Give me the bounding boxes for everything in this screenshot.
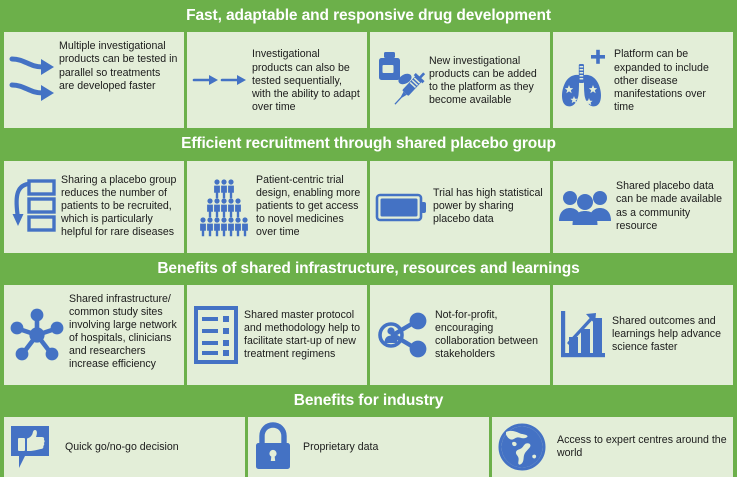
card-master-protocol: Shared master protocol and methodology h… (187, 285, 367, 385)
card-text: Multiple investigational products can be… (59, 38, 178, 93)
share-collaboration-icon (375, 310, 431, 360)
card-text: Investigational products can also be tes… (252, 46, 361, 114)
card-text: Proprietary data (297, 441, 483, 454)
card-platform-expansion: Platform can be expanded to include othe… (553, 32, 733, 128)
card-row: Sharing a placebo group reduces the numb… (4, 161, 733, 253)
card-proprietary-data: Proprietary data (248, 417, 489, 477)
card-statistical-power: Trial has high statistical power by shar… (370, 161, 550, 253)
card-text: Patient-centric trial design, enabling m… (256, 174, 361, 240)
section-efficient-recruitment: Efficient recruitment through shared pla… (4, 132, 733, 252)
section-title-banner: Benefits for industry (4, 389, 733, 414)
card-go-no-go-decision: Quick go/no-go decision (4, 417, 245, 477)
card-not-for-profit: Not-for-profit, encouraging collaboratio… (370, 285, 550, 385)
card-row: Multiple investigational products can be… (4, 32, 733, 128)
two-curved-arrows-icon (9, 49, 55, 111)
card-text: Shared infrastructure/ common study site… (69, 291, 178, 372)
section-title-banner: Benefits of shared infrastructure, resou… (4, 257, 733, 282)
network-hub-icon (9, 306, 65, 364)
thumbs-up-bubble-icon (9, 423, 55, 471)
full-battery-icon (375, 189, 429, 225)
section-title-banner: Fast, adaptable and responsive drug deve… (4, 4, 733, 29)
infographic-root: Fast, adaptable and responsive drug deve… (0, 0, 737, 471)
lungs-plus-icon (558, 49, 610, 111)
card-new-products-added: New investigational products can be adde… (370, 32, 550, 128)
card-text: Access to expert centres around the worl… (551, 434, 727, 460)
card-shared-infrastructure: Shared infrastructure/ common study site… (4, 285, 184, 385)
card-text: Shared master protocol and methodology h… (244, 309, 361, 362)
section-title-banner: Efficient recruitment through shared pla… (4, 132, 733, 157)
section-fast-adaptable: Fast, adaptable and responsive drug deve… (4, 4, 733, 128)
globe-icon (497, 422, 547, 472)
card-row: Quick go/no-go decision Proprietary data (4, 417, 733, 477)
checklist-document-icon (192, 305, 240, 365)
bar-chart-growth-icon (558, 309, 608, 361)
card-parallel-testing: Multiple investigational products can be… (4, 32, 184, 128)
card-text: Quick go/no-go decision (59, 441, 239, 454)
sequential-arrows-icon (192, 67, 248, 93)
card-text: Platform can be expanded to include othe… (614, 46, 727, 114)
section-benefits-industry: Benefits for industry Quick go/no-go dec… (4, 389, 733, 477)
card-shared-placebo-group: Sharing a placebo group reduces the numb… (4, 161, 184, 253)
card-text: Not-for-profit, encouraging collaboratio… (435, 309, 544, 362)
card-sequential-testing: Investigational products can also be tes… (187, 32, 367, 128)
card-patient-centric-design: Patient-centric trial design, enabling m… (187, 161, 367, 253)
card-text: Shared placebo data can be made availabl… (616, 180, 727, 233)
people-group-icon (558, 187, 612, 227)
padlock-icon (253, 422, 293, 472)
card-row: Shared infrastructure/ common study site… (4, 285, 733, 385)
card-text: Trial has high statistical power by shar… (433, 187, 544, 226)
vial-syringe-pill-icon (375, 49, 425, 111)
card-text: Sharing a placebo group reduces the numb… (61, 174, 178, 240)
people-pyramid-icon (192, 177, 252, 237)
stacked-boxes-arrow-icon (9, 176, 57, 238)
card-shared-outcomes: Shared outcomes and learnings help advan… (553, 285, 733, 385)
card-text: Shared outcomes and learnings help advan… (612, 315, 727, 354)
card-community-resource: Shared placebo data can be made availabl… (553, 161, 733, 253)
card-expert-centres: Access to expert centres around the worl… (492, 417, 733, 477)
card-text: New investigational products can be adde… (429, 53, 544, 108)
section-shared-infrastructure: Benefits of shared infrastructure, resou… (4, 257, 733, 385)
